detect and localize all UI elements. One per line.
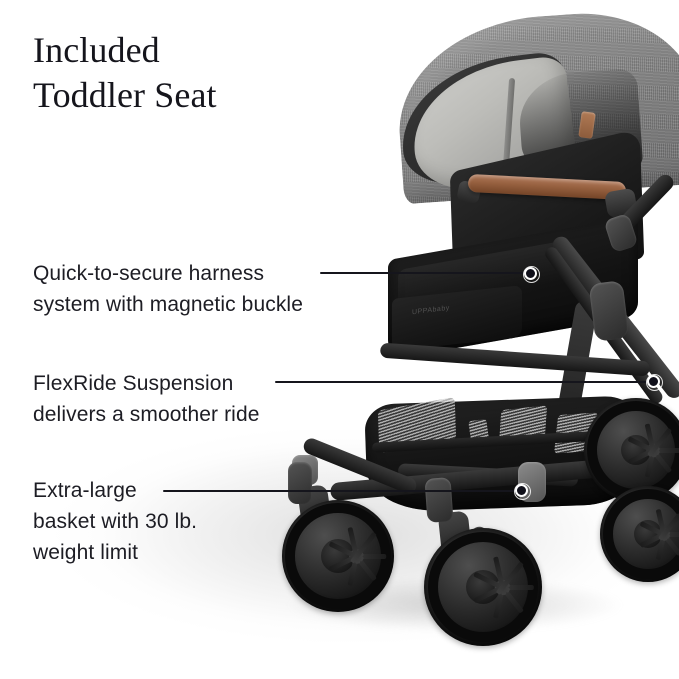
infographic-canvas: UPPAbaby [0,0,679,679]
callout-basket-line-1: Extra-large [33,475,197,506]
callout-harness-line-1: Quick-to-secure harness [33,258,303,289]
rear-wheel [600,486,679,582]
rear-wheel [584,398,679,502]
callout-suspension-line-2: delivers a smoother ride [33,399,260,430]
callout-basket: Extra-large basket with 30 lb. weight li… [33,475,197,568]
leader-line-basket [163,490,523,492]
front-wheel [424,528,542,646]
front-wheel [282,500,394,612]
leader-endpoint-harness [524,267,537,280]
leader-line-suspension [275,381,655,383]
callout-suspension-line-1: FlexRide Suspension [33,368,260,399]
callout-harness: Quick-to-secure harness system with magn… [33,258,303,320]
callout-basket-line-2: basket with 30 lb. [33,506,197,537]
leader-line-harness [320,272,532,274]
callout-harness-line-2: system with magnetic buckle [33,289,303,320]
swivel-joint [288,462,312,504]
swivel-joint [424,477,453,523]
leader-endpoint-suspension [647,375,660,388]
frame-under-seat-bar [380,343,650,377]
title-line-1: Included [33,28,333,73]
page-title: Included Toddler Seat [33,28,333,118]
frame-hinge-joint [589,280,630,342]
callout-basket-line-3: weight limit [33,537,197,568]
title-line-2: Toddler Seat [33,73,333,118]
leader-endpoint-basket [515,484,528,497]
callout-suspension: FlexRide Suspension delivers a smoother … [33,368,260,430]
